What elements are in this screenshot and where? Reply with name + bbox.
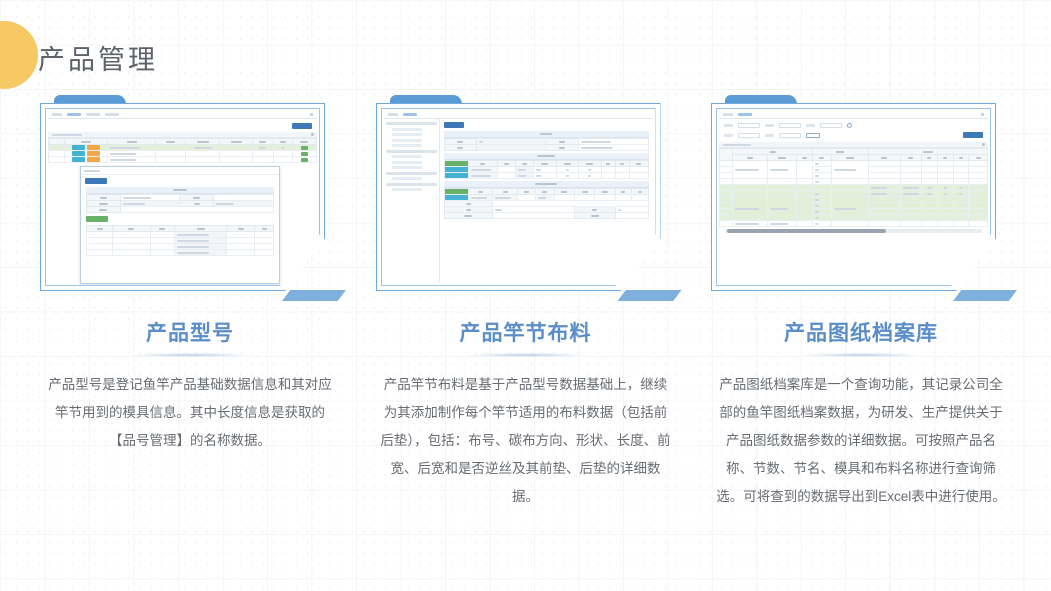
horizontal-scrollbar[interactable]: [725, 229, 982, 233]
screenshot-frame-2: [376, 95, 676, 295]
card-product-model: 产品型号 产品型号是登记鱼竿产品基础数据信息和其对应竿节用到的模具信息。其中长度…: [40, 95, 340, 511]
search-button: [806, 133, 820, 138]
filter-select-fabric: [779, 133, 801, 138]
filter-row-1: [724, 123, 983, 128]
decorative-bevel-bar: [618, 290, 682, 301]
filter-input-sections: [779, 123, 801, 128]
tree-node: [386, 172, 437, 175]
menu-item-public: [86, 113, 100, 116]
save-button: [444, 122, 464, 128]
menu-item-system: [723, 113, 733, 116]
export-button: [963, 132, 983, 138]
screenshot-action-bar: [48, 119, 317, 132]
tree-node: [392, 139, 423, 142]
filter-label-mold: [724, 134, 733, 137]
back-pad-table: [444, 188, 649, 219]
tree-node: [392, 144, 423, 147]
table-row: [720, 221, 988, 227]
filter-row-2: [724, 132, 983, 138]
frame-inner-border: [381, 108, 656, 286]
card-heading-1: 产品型号: [40, 317, 340, 357]
tree-node: [386, 183, 437, 186]
modal-form-table: [86, 194, 274, 213]
section-form-table: [444, 138, 649, 151]
new-button: [292, 123, 312, 129]
tree-node: [392, 177, 423, 180]
menu-item-system: [388, 113, 398, 116]
tree-node: [392, 166, 423, 169]
tree-node: [392, 188, 423, 191]
menu-item-system: [52, 113, 62, 116]
card-drawing-archive: 产品图纸档案库 产品图纸档案库是一个查询功能，其记录公司全部的鱼竿图纸档案数据，…: [711, 95, 1011, 511]
modal-header: [81, 167, 279, 175]
page-title: 产品管理: [38, 38, 158, 77]
product-model-screenshot: [48, 111, 317, 283]
modal-detail-table: [86, 225, 274, 256]
table-row: [49, 157, 317, 163]
filter-input-section-name: [820, 123, 842, 128]
screenshot-menubar: [384, 111, 653, 119]
filter-input-name: [738, 123, 760, 128]
main-fabric-table: [444, 160, 649, 179]
filter-label-section-name: [806, 124, 815, 127]
reset-icon: [847, 123, 852, 128]
tree-node: [392, 128, 423, 131]
decorative-bevel-bar: [953, 290, 1017, 301]
tree-node: [392, 133, 423, 136]
screenshot-frame-1: [40, 95, 340, 295]
scrollbar-thumb[interactable]: [727, 229, 886, 233]
gear-icon: [982, 143, 985, 146]
product-table: [48, 138, 317, 163]
modal-toolbar: [81, 175, 279, 184]
panel-title-back-pad: [444, 181, 649, 188]
filter-select-mold: [738, 133, 760, 138]
menu-item-mold: [105, 113, 119, 116]
navigation-tree: [384, 119, 440, 283]
drawing-archive-screenshot: [719, 111, 988, 283]
screenshot-menubar: [719, 111, 988, 119]
modal-title: [86, 187, 274, 194]
screenshot-body: [384, 119, 653, 283]
panel-title-main-fabric: [444, 153, 649, 160]
screenshot-menubar: [48, 111, 317, 119]
tree-node: [392, 161, 423, 164]
modal-add-row-button: [81, 213, 279, 222]
card-body-1: 产品型号是登记鱼竿产品基础数据信息和其对应竿节用到的模具信息。其中长度信息是获取…: [40, 371, 340, 455]
archive-table: [719, 148, 988, 227]
product-modal: [80, 166, 280, 284]
tree-node: [386, 150, 437, 153]
form-panel: [440, 119, 653, 283]
tree-node: [392, 155, 423, 158]
menu-item-product: [67, 113, 81, 116]
close-icon: [981, 113, 984, 116]
filter-label-fabric: [765, 134, 774, 137]
menu-item-fabric: [403, 113, 417, 116]
filter-label-sections: [765, 124, 774, 127]
card-heading-3: 产品图纸档案库: [711, 317, 1011, 357]
decorative-bevel-bar: [282, 290, 346, 301]
card-rod-section-fabric: 产品竿节布料 产品竿节布料是基于产品型号数据基础上，继续为其添加制作每个竿节适用…: [376, 95, 676, 511]
rod-section-fabric-screenshot: [384, 111, 653, 283]
frame-inner-border: [45, 108, 320, 286]
card-body-2: 产品竿节布料是基于产品型号数据基础上，继续为其添加制作每个竿节适用的布料数据（包…: [376, 371, 676, 511]
close-icon: [310, 113, 313, 116]
card-heading-2: 产品竿节布料: [376, 317, 676, 357]
menu-item-archive: [738, 113, 752, 116]
filter-label-name: [724, 124, 733, 127]
filter-panel: [719, 119, 988, 138]
panel-title-jiehao: [444, 131, 649, 138]
card-list: 产品型号 产品型号是登记鱼竿产品基础数据信息和其对应竿节用到的模具信息。其中长度…: [0, 95, 1051, 511]
screenshot-frame-3: [711, 95, 1011, 295]
tree-node: [386, 122, 437, 125]
card-body-3: 产品图纸档案库是一个查询功能，其记录公司全部的鱼竿图纸档案数据，为研发、生产提供…: [711, 371, 1011, 511]
gear-icon: [311, 133, 314, 136]
frame-inner-border: [716, 108, 991, 286]
